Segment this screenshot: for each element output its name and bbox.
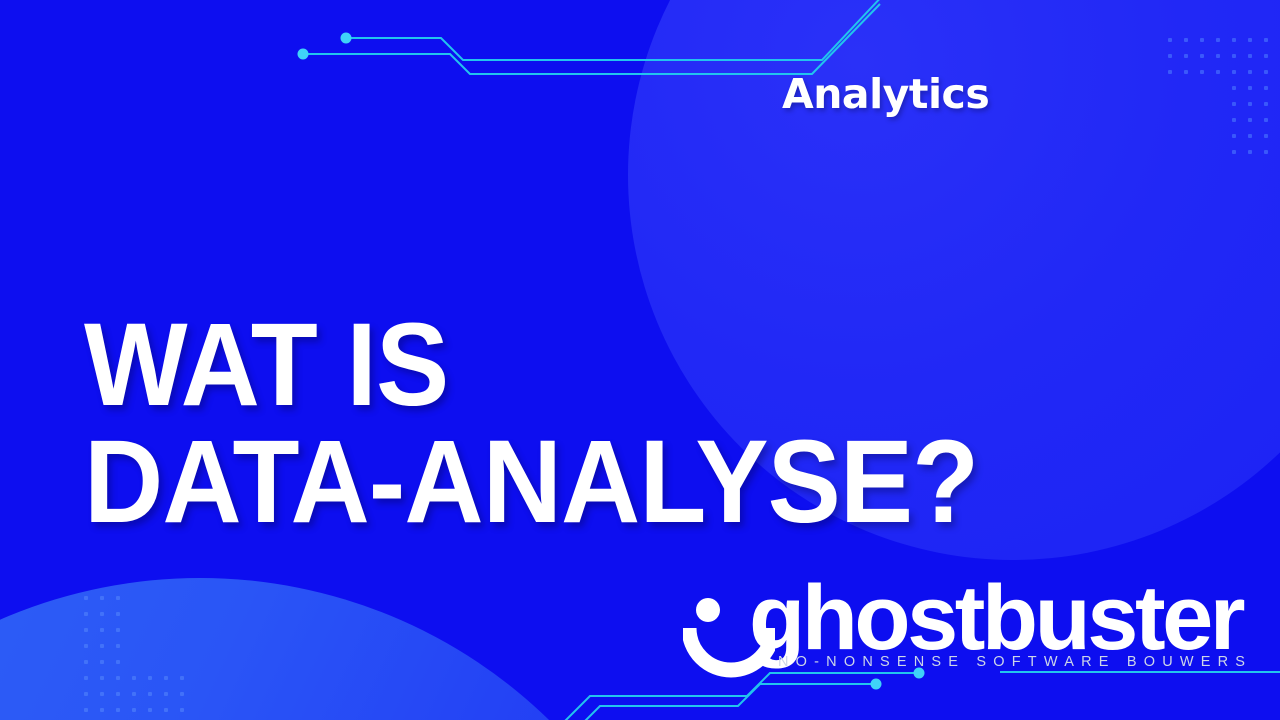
brand-logo: ghostbuster NO-NONSENSE SOFTWARE BOUWERS [683, 576, 1223, 691]
trace-path-tl-upper [346, 0, 886, 60]
headline-line-2: DATA-ANALYSE? [84, 424, 902, 541]
page-title: WAT IS DATA-ANALYSE? [84, 307, 902, 541]
logo-wordmark: ghostbuster [749, 572, 1242, 664]
headline-line-1: WAT IS [84, 307, 902, 424]
category-label: Analytics [782, 70, 989, 118]
circuit-trace-top-left-dots [298, 33, 352, 60]
logo-eye-dot [696, 598, 720, 622]
logo-tagline: NO-NONSENSE SOFTWARE BOUWERS [778, 654, 1252, 670]
trace-dot-tl-2 [298, 49, 309, 60]
trace-dot-tl-1 [341, 33, 352, 44]
circuit-trace-top-left [303, 0, 886, 74]
presentation-slide: Analytics WAT IS DATA-ANALYSE? ghostbust… [0, 0, 1280, 720]
